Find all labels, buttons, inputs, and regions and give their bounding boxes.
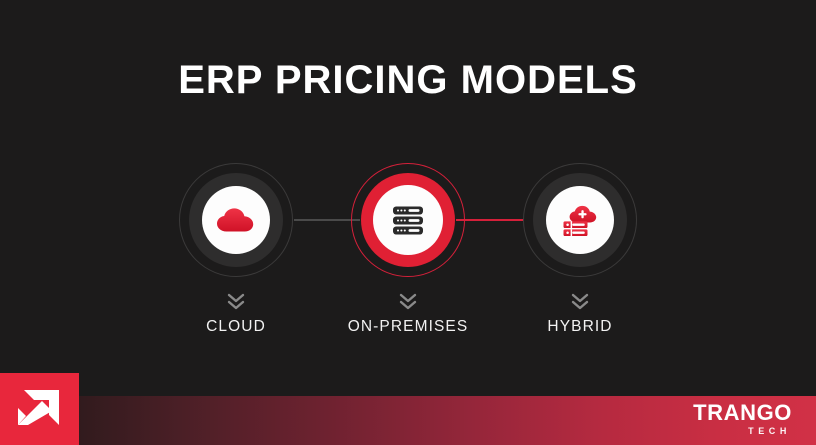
brand-logo-tile[interactable] — [0, 373, 79, 445]
chevron-double-down-icon — [397, 290, 419, 312]
brand-wordmark: TRANGO TECH — [693, 402, 792, 436]
diagram-node-on-premises[interactable]: ON-PREMISES — [338, 150, 478, 360]
pricing-models-diagram: CLOUD — [0, 150, 816, 360]
node-label-cloud: CLOUD — [166, 318, 306, 336]
node-label-on-premises: ON-PREMISES — [338, 318, 478, 336]
node-icon-disc — [546, 186, 614, 254]
chevron-double-down-icon — [225, 290, 247, 312]
cloud-icon — [216, 206, 256, 234]
brand-wordmark-sub: TECH — [693, 427, 791, 436]
slide-canvas: ERP PRICING MODELS — [0, 0, 816, 445]
node-label-hybrid: HYBRID — [510, 318, 650, 336]
cloud-server-plus-icon — [560, 201, 600, 239]
trango-arrow-logo-icon — [12, 381, 68, 438]
server-rack-icon — [389, 201, 427, 239]
chevron-double-down-icon — [569, 290, 591, 312]
brand-wordmark-main: TRANGO — [693, 402, 792, 424]
diagram-node-cloud[interactable]: CLOUD — [166, 150, 306, 360]
node-icon-disc — [373, 185, 443, 255]
diagram-node-hybrid[interactable]: HYBRID — [510, 150, 650, 360]
node-icon-disc — [202, 186, 270, 254]
page-title: ERP PRICING MODELS — [0, 56, 816, 104]
